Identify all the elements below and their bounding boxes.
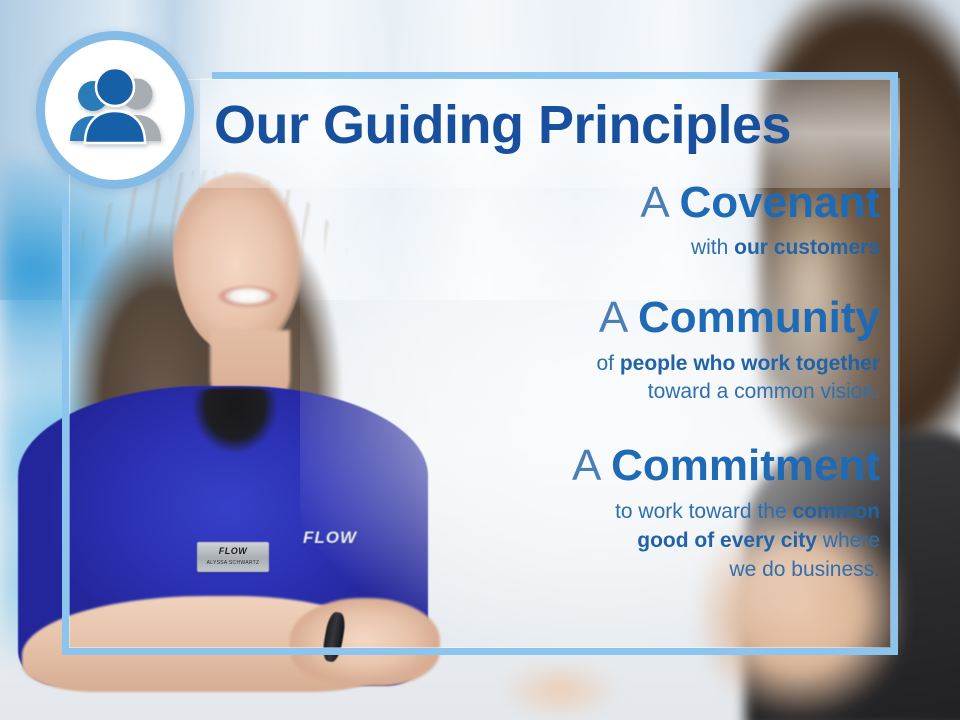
- principles-list: A Covenant with our customers A Communit…: [300, 178, 880, 589]
- principle-keyword: Covenant: [680, 178, 880, 227]
- principle-subtext-commitment: to work toward the common good of every …: [300, 498, 880, 585]
- principle-subtext-emphasis: good of every city: [637, 529, 817, 552]
- frame-border-top: [212, 72, 898, 79]
- promotional-banner: FLOW ALYSSA SCHWARTZ FLOW: [0, 0, 960, 720]
- frame-border-bottom: [62, 648, 898, 655]
- principle-title-commitment: A Commitment: [300, 441, 880, 490]
- principle-item-commitment: A Commitment to work toward the common g…: [300, 441, 880, 584]
- principle-subtext-line: to work toward the: [615, 500, 792, 523]
- people-group-icon: [52, 48, 178, 174]
- principle-title-covenant: A Covenant: [300, 178, 880, 227]
- employee-badge-logo: FLOW: [199, 546, 267, 556]
- principle-keyword: Community: [638, 293, 880, 342]
- principle-subtext-community: of people who work together toward a com…: [300, 350, 880, 408]
- frame-border-right: [891, 72, 898, 655]
- principle-item-covenant: A Covenant with our customers: [300, 178, 880, 263]
- frame-border-left: [62, 196, 69, 655]
- principle-subtext-line: we do business.: [729, 558, 880, 581]
- principle-subtext-emphasis: our customers: [734, 236, 880, 259]
- principle-subtext-line: where: [817, 529, 880, 552]
- customer-hand: [500, 660, 620, 720]
- principle-subtext-covenant: with our customers: [300, 234, 880, 263]
- principle-subtext-line: with: [691, 236, 734, 259]
- employee-badge-name: ALYSSA SCHWARTZ: [199, 560, 267, 566]
- principle-subtext-emphasis: people who work together: [620, 352, 880, 375]
- principle-subtext-line: toward a common vision.: [648, 380, 880, 403]
- principle-item-community: A Community of people who work together …: [300, 293, 880, 407]
- principle-lead: A: [640, 178, 679, 227]
- principle-subtext-line: of: [596, 352, 619, 375]
- principle-keyword: Commitment: [611, 441, 880, 490]
- employee-smile: [216, 286, 280, 310]
- principle-lead: A: [599, 293, 638, 342]
- page-title: Our Guiding Principles: [214, 94, 894, 156]
- principle-subtext-emphasis: common: [792, 500, 880, 523]
- principle-title-community: A Community: [300, 293, 880, 342]
- principle-lead: A: [572, 441, 611, 490]
